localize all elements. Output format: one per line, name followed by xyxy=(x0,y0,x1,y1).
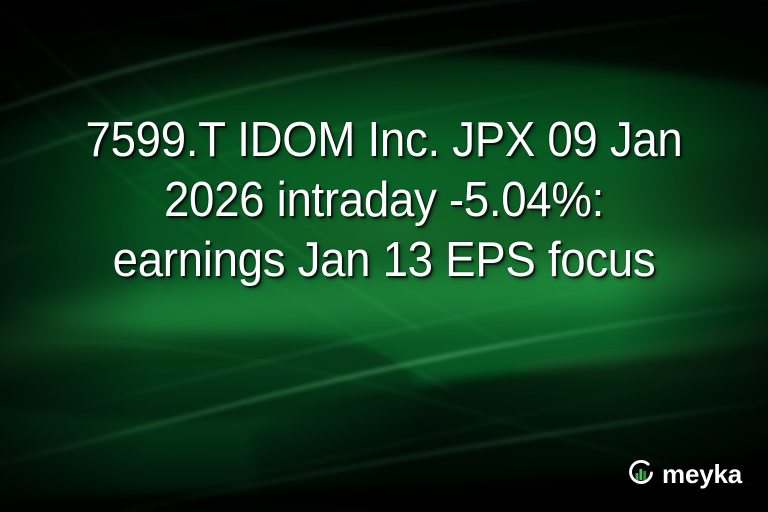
headline-line-3: earnings Jan 13 EPS focus xyxy=(49,230,719,290)
headline: 7599.T IDOM Inc. JPX 09 Jan 2026 intrada… xyxy=(0,110,768,290)
meyka-wordmark: meyka xyxy=(662,461,742,487)
headline-line-1: 7599.T IDOM Inc. JPX 09 Jan xyxy=(49,110,719,170)
headline-line-2: 2026 intraday -5.04%: xyxy=(49,170,719,230)
meyka-bar-chart-ring-icon xyxy=(626,458,656,488)
meyka-logo[interactable]: meyka xyxy=(626,458,742,488)
news-card: 7599.T IDOM Inc. JPX 09 Jan 2026 intrada… xyxy=(0,0,768,512)
